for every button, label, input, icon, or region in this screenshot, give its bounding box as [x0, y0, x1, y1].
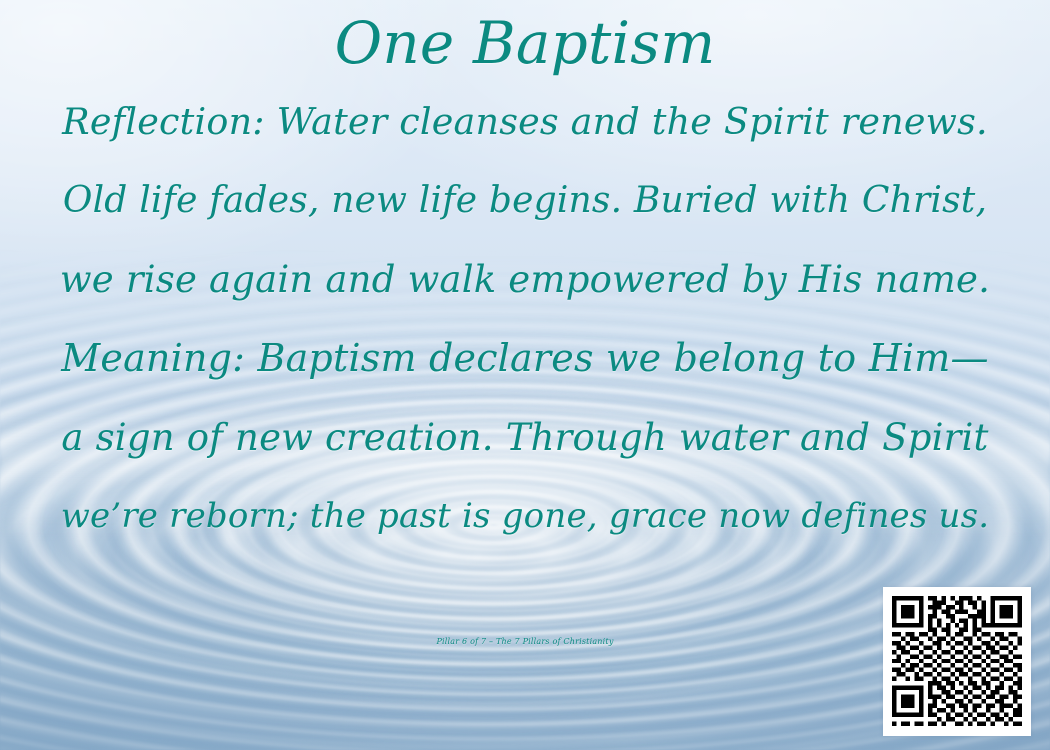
card-body: Reflection: Water cleanses and the Spiri… — [0, 82, 1050, 556]
body-line: Reflection: Water cleanses and the Spiri… — [62, 82, 988, 161]
body-line: a sign of new creation. Through water an… — [61, 398, 988, 477]
devotional-card: One Baptism Reflection: Water cleanses a… — [0, 0, 1050, 750]
body-line: Old life fades, new life begins. Buried … — [63, 161, 987, 240]
card-title: One Baptism — [335, 14, 716, 72]
qr-code-panel[interactable] — [883, 587, 1031, 736]
qr-code-icon[interactable] — [892, 596, 1022, 726]
body-line: we’re reborn; the past is gone, grace no… — [61, 477, 990, 556]
body-line: we rise again and walk empowered by His … — [60, 240, 990, 319]
body-line: Meaning: Baptism declares we belong to H… — [61, 319, 988, 398]
